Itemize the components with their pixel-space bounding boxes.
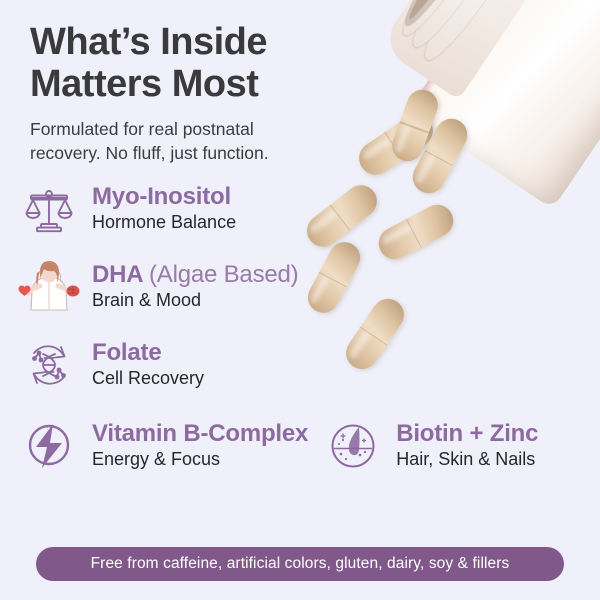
ingredient-list: Myo-Inositol Hormone Balance	[18, 170, 368, 404]
page-title: What’s Inside Matters Most	[30, 22, 370, 106]
ingredient-title: DHA (Algae Based)	[92, 262, 298, 289]
ingredient-title: Biotin + Zinc	[396, 421, 538, 448]
ingredient-title: Vitamin B-Complex	[92, 421, 308, 448]
ingredient-text: Biotin + Zinc Hair, Skin & Nails	[396, 421, 538, 470]
ingredient-title-note: (Algae Based)	[149, 261, 299, 288]
ingredient-subtitle: Hair, Skin & Nails	[396, 449, 538, 471]
ingredient-list-bottom: Vitamin B-Complex Energy & Focus	[18, 404, 582, 488]
capsule	[373, 199, 459, 265]
dna-recycle-icon	[18, 334, 80, 396]
subheading-line-2: recovery. No fluff, just function.	[30, 142, 330, 166]
ingredient-subtitle: Cell Recovery	[92, 368, 204, 390]
ingredient-title: Folate	[92, 340, 204, 367]
ingredient-text: DHA (Algae Based) Brain & Mood	[92, 262, 298, 311]
ingredient-subtitle: Brain & Mood	[92, 290, 298, 312]
ingredient-item-biotin-zinc: Biotin + Zinc Hair, Skin & Nails	[322, 404, 538, 488]
ingredient-title-main: DHA	[92, 261, 143, 288]
ingredient-text: Folate Cell Recovery	[92, 340, 204, 389]
ingredient-item-vitamin-b-complex: Vitamin B-Complex Energy & Focus	[18, 404, 308, 488]
ingredient-subtitle: Hormone Balance	[92, 212, 236, 234]
lightning-bolt-icon	[18, 415, 80, 477]
hair-follicle-icon	[322, 415, 384, 477]
subheading: Formulated for real postnatal recovery. …	[30, 118, 330, 165]
ingredient-text: Vitamin B-Complex Energy & Focus	[92, 421, 308, 470]
balance-scale-icon	[18, 178, 80, 240]
free-from-banner: Free from caffeine, artificial colors, g…	[36, 547, 564, 581]
ingredient-text: Myo-Inositol Hormone Balance	[92, 184, 236, 233]
ingredient-item-dha: DHA (Algae Based) Brain & Mood	[18, 248, 368, 326]
headline-line-2: Matters Most	[30, 64, 370, 106]
headline-line-1: What’s Inside	[30, 22, 370, 64]
woman-heart-brain-icon	[18, 256, 80, 318]
ingredient-item-myo-inositol: Myo-Inositol Hormone Balance	[18, 170, 368, 248]
ingredient-subtitle: Energy & Focus	[92, 449, 308, 471]
subheading-line-1: Formulated for real postnatal	[30, 118, 330, 142]
ingredient-item-folate: Folate Cell Recovery	[18, 326, 368, 404]
marketing-graphic: SLIM What’s Inside Matters Most Formulat…	[0, 0, 600, 600]
ingredient-title: Myo-Inositol	[92, 184, 236, 211]
